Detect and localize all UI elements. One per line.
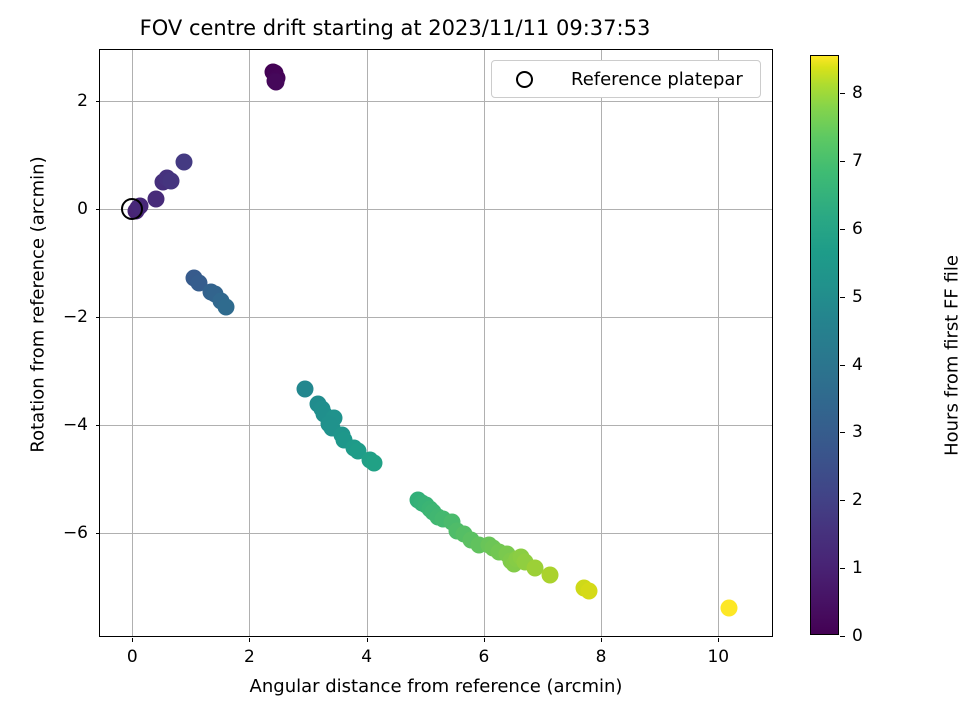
x-tick-label: 6 — [478, 647, 489, 667]
gridline-vertical — [718, 50, 719, 636]
scatter-point — [162, 173, 179, 190]
colorbar-tick-mark — [840, 432, 845, 433]
x-tick-mark — [367, 638, 368, 642]
y-tick-label: 2 — [77, 91, 88, 111]
colorbar-tick-mark — [840, 365, 845, 366]
chart-title: FOV centre drift starting at 2023/11/11 … — [0, 16, 790, 40]
colorbar-label: Hours from first FF file — [942, 146, 960, 566]
gridline-horizontal — [100, 425, 772, 426]
colorbar-tick-mark — [840, 568, 845, 569]
gridline-vertical — [132, 50, 133, 636]
colorbar-tick-mark — [840, 500, 845, 501]
scatter-point — [297, 380, 314, 397]
colorbar-tick-label: 2 — [852, 490, 863, 510]
plot-area — [100, 50, 772, 636]
y-tick-mark — [96, 533, 100, 534]
gridline-horizontal — [100, 101, 772, 102]
scatter-point — [268, 73, 285, 90]
reference-platepar-marker-icon — [516, 71, 533, 88]
scatter-point — [218, 299, 235, 316]
colorbar-tick-label: 4 — [852, 355, 863, 375]
colorbar-tick-label: 0 — [852, 626, 863, 646]
gridline-vertical — [367, 50, 368, 636]
x-tick-label: 4 — [361, 647, 372, 667]
colorbar-tick-label: 6 — [852, 219, 863, 239]
colorbar-tick-mark — [840, 297, 845, 298]
figure: FOV centre drift starting at 2023/11/11 … — [0, 0, 960, 720]
x-tick-mark — [718, 638, 719, 642]
x-tick-label: 10 — [707, 647, 729, 667]
scatter-point — [720, 600, 737, 617]
gridline-horizontal — [100, 317, 772, 318]
scatter-point — [581, 583, 598, 600]
gridline-vertical — [249, 50, 250, 636]
x-tick-label: 2 — [244, 647, 255, 667]
x-tick-label: 0 — [127, 647, 138, 667]
scatter-point — [175, 153, 192, 170]
x-tick-mark — [484, 638, 485, 642]
colorbar-tick-mark — [840, 636, 845, 637]
colorbar-tick-mark — [840, 93, 845, 94]
scatter-point — [365, 454, 382, 471]
legend-entry-label: Reference platepar — [571, 69, 743, 90]
x-tick-mark — [132, 638, 133, 642]
y-axis-label: Rotation from reference (arcmin) — [28, 45, 49, 565]
colorbar-tick-label: 8 — [852, 83, 863, 103]
colorbar-tick-label: 3 — [852, 422, 863, 442]
colorbar-tick-label: 7 — [852, 151, 863, 171]
y-tick-mark — [96, 209, 100, 210]
colorbar-tick-label: 1 — [852, 558, 863, 578]
legend: Reference platepar — [491, 60, 761, 98]
x-tick-label: 8 — [596, 647, 607, 667]
x-axis-label: Angular distance from reference (arcmin) — [99, 676, 773, 697]
plot-axes: 0246810−6−4−202 — [99, 49, 773, 637]
y-tick-label: −2 — [63, 307, 88, 327]
colorbar-tick-label: 5 — [852, 287, 863, 307]
colorbar: 012345678 — [810, 55, 839, 635]
scatter-point — [147, 190, 164, 207]
gridline-horizontal — [100, 209, 772, 210]
y-tick-label: −4 — [63, 415, 88, 435]
y-tick-label: 0 — [77, 199, 88, 219]
y-tick-mark — [96, 317, 100, 318]
x-tick-mark — [601, 638, 602, 642]
y-tick-mark — [96, 425, 100, 426]
gridline-horizontal — [100, 533, 772, 534]
x-tick-mark — [249, 638, 250, 642]
gridline-vertical — [601, 50, 602, 636]
reference-platepar-point — [121, 198, 143, 220]
colorbar-tick-mark — [840, 229, 845, 230]
y-tick-label: −6 — [63, 523, 88, 543]
colorbar-tick-mark — [840, 161, 845, 162]
scatter-point — [541, 566, 558, 583]
y-tick-mark — [96, 101, 100, 102]
